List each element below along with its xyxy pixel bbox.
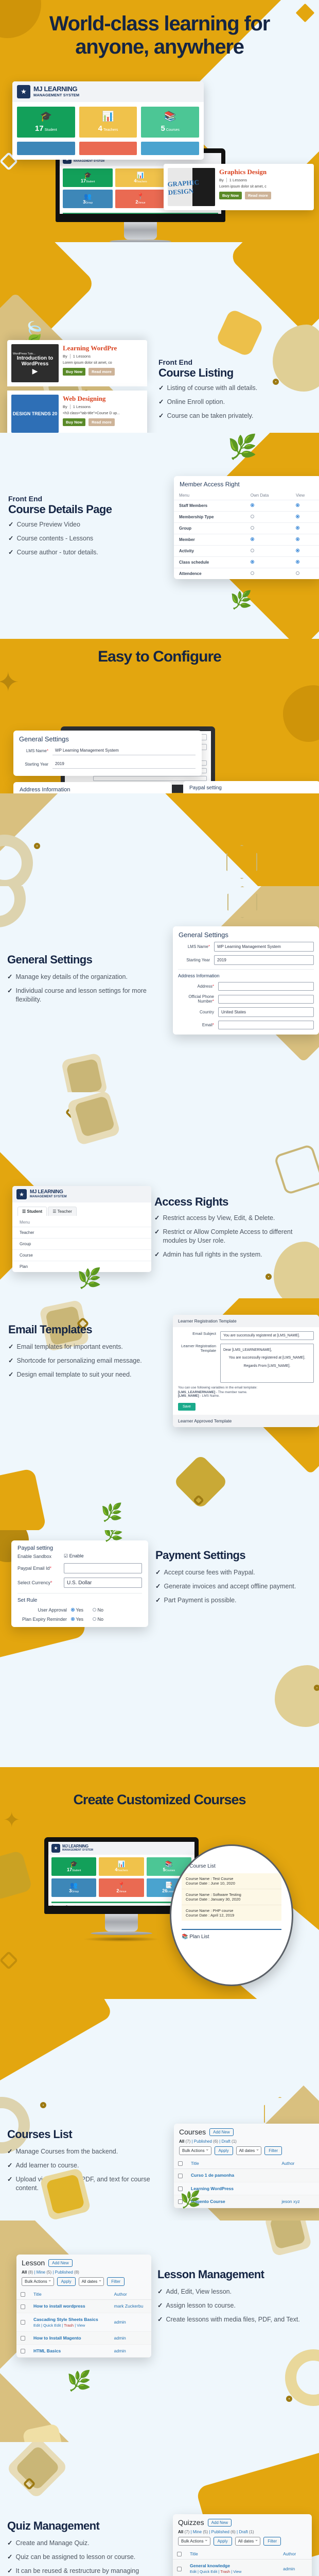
mini-dashboard-header: ★ MJ LEARNING MANAGEMENT SYSTEM	[48, 1842, 194, 1855]
check-icon: ✓	[7, 2553, 12, 2562]
buy-now-button[interactable]: Buy Now	[219, 192, 242, 199]
tab-student[interactable]: ☰ Student	[17, 1207, 47, 1216]
lms-logo-line1: MJ LEARNING	[33, 86, 79, 92]
feature-kicker: Front End	[8, 495, 163, 503]
plan-expiry-no[interactable]: No	[93, 1617, 103, 1622]
tab-teacher[interactable]: ☰ Teacher	[48, 1207, 77, 1216]
leaf-icon: 🌿	[231, 590, 252, 611]
panel-title: General Settings	[173, 926, 319, 942]
row-checkbox[interactable]	[21, 2336, 25, 2341]
course-title: Graphics Design	[219, 168, 310, 176]
set-rule-title: Set Rule	[17, 1598, 142, 1603]
payment-report-widget: Payment Report Payment Report By Month 1…	[63, 213, 218, 214]
radio-own-data	[251, 526, 254, 530]
field-label: LMS Name*	[20, 749, 48, 753]
group-icon: 👥	[70, 1882, 78, 1888]
radio-view	[296, 560, 299, 564]
filter-mine[interactable]: Mine	[37, 2270, 45, 2275]
table-row: Teacher	[12, 1227, 151, 1239]
teacher-board-icon: 📊	[137, 172, 145, 178]
lesson-title-link[interactable]: Cascading Style Sheets Basics	[33, 2317, 98, 2322]
email-templates-section: Email Templates ✓Email templates for imp…	[0, 1298, 319, 1530]
field-label: Address*	[178, 984, 214, 989]
stat-tile-teachers[interactable]: 📊 4Teachers	[79, 107, 137, 138]
stat-tile-grid: 🎓 17Student 📊 4Teachers 📚 5Courses	[12, 102, 204, 160]
list-item: ✓Restrict or Allow Complete Access to di…	[154, 1228, 314, 1245]
list-item: ✓Restrict access by View, Edit, & Delete…	[154, 1214, 314, 1223]
access-rights-panel: ★ MJ LEARNING MANAGEMENT SYSTEM ☰ Studen…	[12, 1186, 151, 1272]
course-title-link[interactable]: Curso 1 de pamonha	[191, 2173, 234, 2178]
check-icon: ✓	[157, 2301, 163, 2310]
radio-own-data	[251, 549, 254, 552]
filter-published[interactable]: Published	[211, 2530, 229, 2534]
table-header-row: TitleAuthor	[16, 2289, 151, 2300]
stat-tile-student[interactable]: 🎓 17Student	[17, 107, 75, 138]
filter-button[interactable]: Filter	[107, 2277, 125, 2286]
feature-check-list: ✓Email templates for important events. ✓…	[8, 1343, 163, 1379]
access-rights-table: Menu Teacher Group Course Plan	[12, 1218, 151, 1272]
feature-title: Quiz Management	[7, 2519, 167, 2533]
field-label: Enable Sandbox	[17, 1554, 60, 1559]
panel-title: Member Access Right	[174, 476, 319, 491]
table-row: Activity	[174, 546, 319, 557]
lms-logo-icon: ★	[51, 1844, 60, 1853]
filter-all[interactable]: All	[179, 2139, 184, 2144]
page-title: World-class learning for anyone, anywher…	[0, 0, 319, 59]
quiz-management-section: Quiz Management ✓Create and Manage Quiz.…	[0, 2442, 319, 2576]
lms-logo-line1: MJ LEARNING	[62, 1844, 93, 1849]
decor-dot-ring	[265, 1274, 272, 1280]
check-icon: ✓	[154, 1250, 159, 1259]
read-more-button[interactable]: Read more	[88, 368, 115, 376]
list-item: ✓Listing of course with all details.	[158, 384, 308, 393]
decor-star: ✦	[3, 1808, 21, 1832]
list-item: ✓Course author - tutor details.	[8, 548, 163, 557]
list-item: ✓Generate invoices and accept offline pa…	[155, 1582, 315, 1591]
check-icon: ✓	[157, 2287, 163, 2296]
check-icon: ✓	[7, 987, 12, 1004]
decor-blob	[275, 1665, 319, 1727]
table-row: Group	[12, 1239, 151, 1250]
course-card-graphics[interactable]: GRAPHIC DESIGN Graphics Design By1 Lesso…	[164, 164, 314, 210]
general-settings-panel: General Settings LMS Name* WP Learning M…	[173, 926, 319, 1035]
radio-view	[296, 571, 299, 575]
starting-year-input[interactable]: 2019	[214, 955, 314, 965]
leaf-icon: 🌿	[180, 2190, 201, 2209]
course-thumbnail: DESIGN TRENDS 20	[11, 395, 59, 433]
panel-header: Lesson Add New	[16, 2255, 151, 2269]
list-item: ✓Course contents - Lessons	[8, 534, 163, 543]
lesson-list-panel: Lesson Add New All (8) | Mine (5) | Publ…	[16, 2255, 151, 2358]
row-checkbox[interactable]	[21, 2349, 25, 2353]
row-checkbox[interactable]	[178, 2174, 183, 2178]
field-label: Email*	[178, 1023, 214, 1027]
table-row: Curso 1 de pamonha	[174, 2169, 319, 2182]
mini-tile-group[interactable]: 👥 3Group	[63, 190, 113, 208]
user-approval-yes[interactable]: Yes	[71, 1607, 83, 1613]
status-filters: All (7) | Published (6) | Draft (1)	[174, 2138, 319, 2146]
apply-button[interactable]: Apply	[215, 2146, 233, 2155]
email-body-textarea[interactable]: Dear [LMS_LEARNERNAME], You are successu…	[220, 1344, 314, 1383]
payment-settings-panel: Paypal setting Enable Sandbox ☑ Enable P…	[11, 1540, 148, 1627]
dashboard-card: ★ MJ LEARNING MANAGEMENT SYSTEM 🎓 17Stud…	[12, 81, 204, 160]
list-item: ✓Course Preview Video	[8, 520, 163, 529]
list-item[interactable]: Course Name : PHP course Course Date : A…	[182, 1905, 281, 1921]
general-settings-copy: General Settings ✓Manage key details of …	[7, 953, 162, 1009]
check-icon: ✓	[7, 2161, 12, 2170]
decor-square-fill	[66, 1058, 103, 1092]
hero-section: World-class learning for anyone, anywher…	[0, 0, 319, 242]
course-title: Web Designing	[63, 395, 143, 403]
panel-header: Learner Registration Template	[173, 1315, 319, 1327]
easy-to-configure-band: Easy to Configure ✦ Address Information …	[0, 639, 319, 793]
table-row: Cascading Style Sheets BasicsEdit | Quic…	[16, 2313, 151, 2331]
mini-tile-group[interactable]: 👥3Group	[51, 1878, 96, 1897]
plan-expiry-yes[interactable]: Yes	[71, 1617, 83, 1622]
table-row: Class schedule	[174, 557, 319, 568]
email-input[interactable]	[218, 1021, 314, 1029]
filter-bar: Bulk Actions Apply All dates Filter	[174, 2146, 319, 2158]
filter-draft[interactable]: Draft	[239, 2530, 247, 2534]
field-label: LMS Name*	[178, 944, 210, 949]
feature-check-list: ✓Accept course fees with Paypal. ✓Genera…	[155, 1568, 315, 1605]
list-item: ✓Create lessons with media files, PDF, a…	[157, 2315, 317, 2324]
variable-item: [LMS_LEARNERNAME] - The member name.	[178, 1391, 314, 1394]
row-actions[interactable]: Edit | Quick Edit | Trash | View	[33, 2323, 106, 2328]
check-icon: ✓	[157, 2315, 163, 2324]
list-item: ✓Part Payment is possible.	[155, 1596, 315, 1605]
course-desc: <h3 class="tab-title">Course D up...	[63, 411, 143, 416]
select-all-checkbox[interactable]	[21, 2292, 25, 2297]
list-item[interactable]: Course Name : Software Testing Course Da…	[182, 1889, 281, 1905]
stat-tile-courses[interactable]: 📚 5Courses	[141, 107, 199, 138]
variable-item: [LMS_NAME] - LMS Name.	[178, 1394, 314, 1398]
feature-title: Access Rights	[154, 1195, 314, 1209]
list-item: ✓Add, Edit, View lesson.	[157, 2287, 317, 2296]
course-thumbnail: WordPress Tuto... Introduction to WordPr…	[11, 344, 59, 382]
check-icon: ✓	[154, 1214, 159, 1223]
graduate-icon: 🎓	[40, 112, 52, 122]
email-templates-copy: Email Templates ✓Email templates for imp…	[8, 1323, 163, 1384]
field-label: Learner Registration Template	[178, 1344, 216, 1353]
email-template-panel: Learner Registration Template Email Subj…	[173, 1315, 319, 1427]
check-icon: ✓	[7, 2539, 12, 2548]
check-icon: ✓	[8, 548, 13, 557]
read-more-button[interactable]: Read more	[245, 192, 271, 199]
quiz-title-link[interactable]: General knowledge	[190, 2563, 230, 2568]
monitor-shadow	[83, 1937, 160, 1942]
filter-mine[interactable]: Mine	[193, 2530, 202, 2534]
lessons-table: TitleAuthor How to install wordpressmark…	[16, 2289, 151, 2358]
general-settings-section: General Settings ✓Manage key details of …	[0, 886, 319, 1092]
table-row: How to install wordpressmark Zuckerbu	[16, 2300, 151, 2313]
filter-button[interactable]: Filter	[264, 2146, 282, 2155]
lesson-icon: 📑	[165, 1882, 173, 1888]
list-item: ✓Online Enroll option.	[158, 398, 308, 406]
section-title: Easy to Configure	[0, 639, 319, 666]
list-item: ✓Email templates for important events.	[8, 1343, 163, 1351]
radio-view	[296, 537, 299, 541]
buy-now-button[interactable]: Buy Now	[63, 368, 85, 376]
table-row: HTML Basicsadmin	[16, 2344, 151, 2357]
quizzes-panel: Quizzes Add New All (7) | Mine (5) | Pub…	[173, 2514, 312, 2576]
filter-bar: Bulk Actions Apply All dates Filter	[16, 2277, 151, 2289]
location-pin-icon: 📍	[118, 1882, 126, 1888]
country-input[interactable]: United States	[218, 1007, 314, 1017]
decor-wedge	[0, 1999, 113, 2100]
table-row: Attendence	[174, 568, 319, 580]
phone-input[interactable]	[218, 995, 314, 1004]
mini-tile-teachers[interactable]: 📊4Teachers	[99, 1857, 144, 1876]
leaf-icon: 🌿	[103, 1530, 123, 1543]
lesson-title-link[interactable]: How to Install Magento	[33, 2335, 81, 2341]
member-access-table: Menu Own Data View Staff Members Members…	[174, 491, 319, 579]
decor-diamond-ring	[0, 1951, 18, 1970]
group-icon: 👥	[84, 193, 92, 199]
feature-kicker: Front End	[158, 358, 308, 366]
check-icon: ✓	[8, 1357, 13, 1365]
panel-footer: Learner Approved Template	[173, 1415, 319, 1427]
panel-title: Paypal setting	[183, 781, 319, 793]
decor-star: ✦	[0, 667, 20, 698]
decor-square-outline-2	[274, 1144, 319, 1195]
decor-dot-ring	[286, 2396, 292, 2402]
stat-tile-group[interactable]	[17, 142, 75, 155]
field-label: Email Subject	[178, 1331, 216, 1336]
decor-dot-ring	[314, 1685, 319, 1691]
field-label: User Approval	[17, 1607, 67, 1613]
check-icon: ✓	[158, 412, 164, 420]
save-button[interactable]: Save	[178, 1403, 196, 1411]
table-row: How to Install Magentoadmin	[16, 2331, 151, 2344]
radio-own-data	[251, 560, 254, 564]
decor-blob	[283, 685, 319, 742]
table-row: Group	[174, 523, 319, 534]
table-row: Member	[174, 534, 319, 546]
buy-now-button[interactable]: Buy Now	[63, 418, 85, 426]
course-list-magnifier: 📖 Course List Course Name : Test Course …	[170, 1844, 293, 1986]
check-icon: ✓	[158, 384, 164, 393]
date-filter-select[interactable]: All dates	[236, 2146, 262, 2155]
plan-list-title: 📚 Plan List	[182, 1929, 281, 1940]
radio-view	[296, 549, 299, 552]
select-all-checkbox[interactable]	[177, 2552, 182, 2556]
filter-draft[interactable]: Draft	[221, 2139, 230, 2144]
add-new-button[interactable]: Add New	[48, 2259, 72, 2267]
check-icon: ✓	[8, 520, 13, 529]
lms-name-input[interactable]: WP Learning Management System	[52, 746, 196, 755]
leaf-icon: 🌿	[228, 433, 257, 461]
mini-tile-teachers[interactable]: 📊 4Teachers	[115, 168, 165, 187]
add-new-button[interactable]: Add New	[208, 2519, 232, 2527]
lesson-title-link[interactable]: HTML Basics	[33, 2348, 61, 2353]
panel-heading: Courses	[179, 2128, 206, 2136]
enable-sandbox-checkbox[interactable]: ☑ Enable	[234, 793, 252, 793]
course-desc: Lorem ipsum dolor sit amet, co	[63, 361, 143, 365]
dashboard-header: ★ MJ LEARNING MANAGEMENT SYSTEM	[12, 81, 204, 102]
radio-own-data	[251, 571, 254, 575]
address-section-label: Address Information	[178, 973, 314, 978]
address-information-card: Address Information Address* Official Ph…	[13, 782, 172, 793]
check-icon: ✓	[155, 1596, 161, 1605]
mini-tile-venue[interactable]: 📍 2Venue	[115, 190, 165, 208]
lms-logo-line2: MANAGEMENT SYSTEM	[33, 92, 79, 98]
check-icon: ✓	[155, 1568, 161, 1577]
table-header-row: TitleAuthor	[174, 2158, 319, 2169]
list-item: ✓It can be reused & restructure by manag…	[7, 2567, 167, 2576]
filter-button[interactable]: Filter	[263, 2537, 281, 2546]
list-item[interactable]: Course Name : Test Course Course Date : …	[182, 1873, 281, 1889]
currency-select[interactable]: U.S. Dollar	[64, 1578, 142, 1588]
list-item: ✓Course can be taken privately.	[158, 412, 308, 420]
filter-all[interactable]: All	[178, 2530, 183, 2534]
date-filter-select[interactable]: All dates	[79, 2277, 104, 2286]
decor-dot-ring	[40, 2102, 46, 2108]
row-checkbox[interactable]	[21, 2304, 25, 2309]
check-icon: ✓	[158, 398, 164, 406]
course-listing-copy: Front End Course Listing ✓Listing of cou…	[158, 358, 308, 426]
apply-button[interactable]: Apply	[214, 2537, 232, 2546]
play-icon[interactable]: ▶	[32, 367, 38, 376]
feature-title: Email Templates	[8, 1323, 163, 1336]
starting-year-input[interactable]: 2019	[52, 759, 196, 769]
paypal-email-input[interactable]	[64, 1563, 142, 1573]
check-icon: ✓	[154, 1228, 159, 1245]
filter-all[interactable]: All	[22, 2270, 27, 2275]
decor-ring	[0, 886, 26, 927]
field-label: Select Currency*	[17, 1580, 60, 1585]
access-rights-section: ★ MJ LEARNING MANAGEMENT SYSTEM ☰ Studen…	[0, 1092, 319, 1298]
decor-square-1	[215, 308, 264, 358]
books-stack-icon: 📚	[164, 112, 176, 122]
feature-title: Course Listing	[158, 366, 308, 380]
radio-view	[296, 503, 299, 507]
check-icon: ✓	[8, 1370, 13, 1379]
filter-published[interactable]: Published	[194, 2139, 212, 2144]
mini-tile-venue[interactable]: 📍2Venue	[99, 1878, 144, 1897]
feature-title: Courses List	[7, 2128, 162, 2141]
courses-list-section: Courses List ✓Manage Courses from the ba…	[0, 1999, 319, 2221]
form-input-placeholder[interactable]	[93, 776, 207, 781]
row-checkbox[interactable]	[21, 2320, 25, 2325]
read-more-button[interactable]: Read more	[88, 418, 115, 426]
course-details-copy: Front End Course Details Page ✓Course Pr…	[8, 495, 163, 562]
field-label: Paypal Email Id*	[17, 1566, 60, 1571]
apply-button[interactable]: Apply	[57, 2277, 76, 2286]
list-item: ✓Create and Manage Quiz.	[7, 2539, 167, 2548]
decor-square	[0, 1850, 33, 1901]
bulk-actions-select[interactable]: Bulk Actions	[179, 2146, 211, 2155]
status-filters: All (8) | Mine (5) | Published (8)	[16, 2269, 151, 2277]
course-title: Learning WordPre	[63, 344, 143, 352]
course-by-label: By	[219, 178, 224, 182]
user-approval-no[interactable]: No	[93, 1607, 103, 1613]
monitor-neck	[105, 1914, 138, 1931]
radio-view	[296, 515, 299, 518]
bulk-actions-select[interactable]: Bulk Actions	[22, 2277, 54, 2286]
email-subject-input[interactable]: You are successully registered at [LMS_N…	[220, 1331, 314, 1340]
configure-spacer	[0, 793, 319, 886]
feature-check-list: ✓Manage key details of the organization.…	[7, 973, 162, 1004]
list-item: ✓Manage Courses from the backend.	[7, 2147, 162, 2156]
panel-header: Quizzes Add New	[173, 2514, 312, 2529]
list-item: ✓Design email template to suit your need…	[8, 1370, 163, 1379]
course-thumbnail: GRAPHIC DESIGN	[168, 168, 215, 206]
payment-settings-copy: Payment Settings ✓Accept course fees wit…	[155, 1549, 315, 1610]
graduate-icon: 🎓	[84, 172, 92, 178]
radio-own-data	[251, 503, 254, 507]
payment-settings-section: Paypal setting Enable Sandbox ☑ Enable P…	[0, 1530, 319, 1767]
lesson-title-link[interactable]: How to install wordpress	[33, 2303, 85, 2309]
panel-heading: Quizzes	[178, 2518, 204, 2527]
lesson-management-copy: Lesson Management ✓Add, Edit, View lesso…	[157, 2268, 317, 2329]
check-icon: ✓	[7, 2175, 12, 2193]
radio-own-data	[251, 537, 254, 541]
lms-name-input[interactable]: WP Learning Management System	[214, 942, 314, 952]
field-label: Official Phone Number*	[178, 994, 214, 1004]
member-access-right-panel: Member Access Right Menu Own Data View S…	[174, 476, 319, 579]
variables-note: You can use following variables in the e…	[178, 1386, 314, 1389]
list-item: ✓Add learner to course.	[7, 2161, 162, 2170]
table-header-row: Menu	[12, 1218, 151, 1227]
general-settings-card: General Settings LMS Name* WP Learning M…	[13, 731, 202, 776]
tab-strip: ☰ Student ☰ Teacher	[12, 1202, 151, 1216]
radio-view	[296, 526, 299, 530]
check-icon: ✓	[7, 2567, 12, 2576]
check-icon: ✓	[8, 1343, 13, 1351]
leaf-icon: 🌿	[67, 2370, 91, 2393]
check-icon: ✓	[7, 2147, 12, 2156]
check-icon: ✓	[7, 973, 12, 981]
course-card-webdesign[interactable]: DESIGN TRENDS 20 Web Designing By1 Lesso…	[7, 391, 147, 433]
quizzes-table: TitleAuthor General knowledgeEdit | Quic…	[173, 2549, 312, 2576]
filter-published[interactable]: Published	[55, 2270, 73, 2275]
paypal-setting-card: Paypal setting Enable Sandbox ☑ Enable P…	[183, 781, 319, 793]
stat-tile-lesson[interactable]	[141, 142, 199, 155]
feature-check-list: ✓Course Preview Video ✓Course contents -…	[8, 520, 163, 557]
course-listing-section: 🍃 WordPress Tuto... Introduction to Word…	[0, 242, 319, 433]
mini-tile-student[interactable]: 🎓17Student	[51, 1857, 96, 1876]
monitor-base	[91, 1931, 152, 1935]
panel-header: Courses Add New	[174, 2124, 319, 2138]
add-new-button[interactable]: Add New	[209, 2128, 233, 2136]
bulk-actions-select[interactable]: Bulk Actions	[178, 2537, 210, 2546]
enable-sandbox-checkbox[interactable]: ☑ Enable	[64, 1553, 84, 1559]
quiz-management-copy: Quiz Management ✓Create and Manage Quiz.…	[7, 2519, 167, 2576]
list-item: ✓Assign lesson to course.	[157, 2301, 317, 2310]
list-item: ✓Shortcode for personalizing email messa…	[8, 1357, 163, 1365]
course-card-wordpress[interactable]: WordPress Tuto... Introduction to WordPr…	[7, 340, 147, 386]
table-row: Course	[12, 1250, 151, 1261]
address-input[interactable]	[218, 982, 314, 991]
decor-dot-ring	[34, 843, 40, 849]
select-all-checkbox[interactable]	[178, 2161, 183, 2166]
row-checkbox[interactable]	[177, 2567, 182, 2571]
lms-logo-line1: MJ LEARNING	[30, 1190, 67, 1195]
monitor-base	[110, 240, 171, 242]
mini-tile-student[interactable]: 🎓 17Student	[63, 168, 113, 187]
feature-check-list: ✓Create and Manage Quiz. ✓Quiz can be as…	[7, 2539, 167, 2576]
field-label: Starting Year	[178, 958, 210, 962]
row-actions[interactable]: Edit | Quick Edit | Trash | View	[190, 2569, 275, 2574]
create-customized-courses-band: Create Customized Courses ✦ ★ MJ LEARNIN…	[0, 1767, 319, 1999]
course-lessons: 1 Lessons	[226, 178, 247, 182]
date-filter-select[interactable]: All dates	[235, 2537, 261, 2546]
check-icon: ✓	[8, 534, 13, 543]
lms-logo-icon: ★	[16, 1189, 27, 1199]
feature-title: Lesson Management	[157, 2268, 317, 2281]
stat-tile-venue[interactable]	[79, 142, 137, 155]
